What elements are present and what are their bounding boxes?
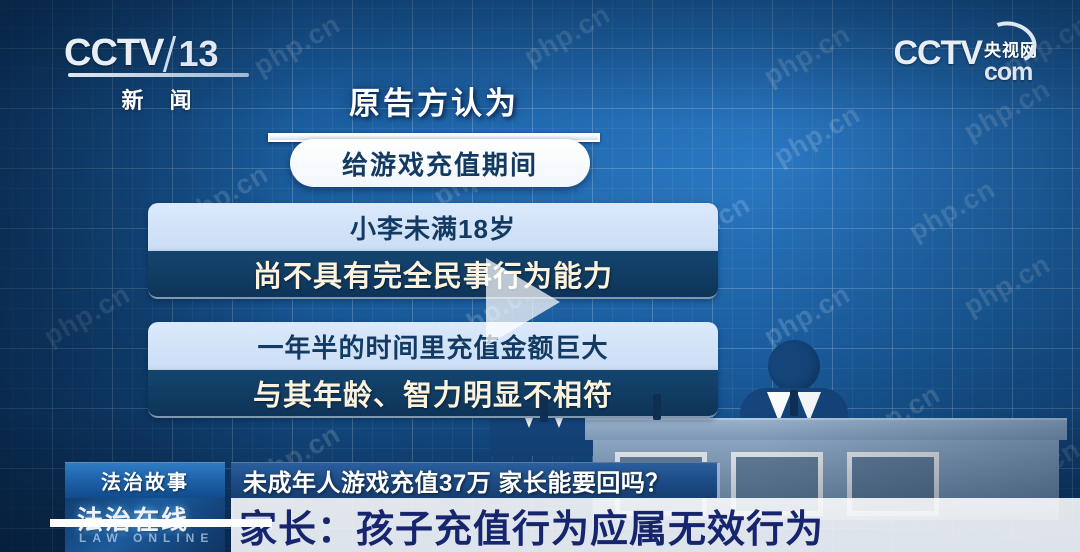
argument-block-2: 一年半的时间里充值金额巨大 与其年龄、智力明显不相符 xyxy=(148,322,718,418)
subtitle-bar: 家长：孩子充值行为应属无效行为 xyxy=(231,498,1080,552)
play-icon[interactable] xyxy=(486,258,560,346)
cctv13-subtitle: 新 闻 xyxy=(64,83,249,115)
argument-block-1-light-text: 小李未满18岁 xyxy=(350,209,516,246)
argument-block-1-dark-row: 尚不具有完全民事行为能力 xyxy=(148,251,718,299)
slide-headline-text: 原告方认为 xyxy=(268,78,600,123)
watermark: php.cn xyxy=(39,278,136,352)
argument-block-1: 小李未满18岁 尚不具有完全民事行为能力 xyxy=(148,203,718,299)
watermark: php.cn xyxy=(769,98,866,172)
cctv-com-letters: CCTV xyxy=(893,34,982,72)
timeframe-pill-text: 给游戏充值期间 xyxy=(342,145,538,182)
program-brand-english: LAW ONLINE xyxy=(79,531,214,545)
subtitle-text: 家长：孩子充值行为应属无效行为 xyxy=(239,498,824,552)
cctv13-slash-icon xyxy=(163,36,176,72)
person-tie xyxy=(653,394,661,420)
person-tie xyxy=(540,396,548,422)
topic-bar-text: 未成年人游戏充值37万 家长能要回吗？ xyxy=(243,463,670,498)
cctv-com-logo: CCTV 央视网 com xyxy=(893,34,1038,87)
watermark: php.cn xyxy=(519,0,616,73)
watermark: php.cn xyxy=(959,248,1056,322)
person-head-icon xyxy=(768,340,820,392)
video-frame: php.cn php.cn php.cn php.cn php.cn php.c… xyxy=(0,0,1080,552)
program-tagline: 法治故事 xyxy=(65,462,225,498)
argument-block-2-dark-row: 与其年龄、智力明显不相符 xyxy=(148,370,718,418)
topic-bar: 未成年人游戏充值37万 家长能要回吗？ xyxy=(231,462,720,498)
program-tagline-text: 法治故事 xyxy=(101,466,189,495)
cctv13-logo: CCTV 13 新 闻 xyxy=(64,32,249,115)
lower-third: 法治故事 未成年人游戏充值37万 家长能要回吗？ 法治在线 LAW ONLINE… xyxy=(0,462,1080,552)
timeframe-pill: 给游戏充值期间 xyxy=(290,139,590,187)
cctv13-letters: CCTV xyxy=(64,32,163,75)
argument-block-2-light-row: 一年半的时间里充值金额巨大 xyxy=(148,322,718,370)
argument-block-1-light-row: 小李未满18岁 xyxy=(148,203,718,251)
watermark: php.cn xyxy=(249,8,346,82)
progress-bar[interactable] xyxy=(50,519,272,527)
person-tie xyxy=(790,390,798,416)
cctv13-number: 13 xyxy=(178,33,218,75)
bench-top xyxy=(585,418,1067,440)
watermark: php.cn xyxy=(759,18,856,92)
watermark: php.cn xyxy=(904,173,1001,247)
argument-block-2-dark-text: 与其年龄、智力明显不相符 xyxy=(253,372,613,414)
slide-headline: 原告方认为 xyxy=(268,78,600,142)
